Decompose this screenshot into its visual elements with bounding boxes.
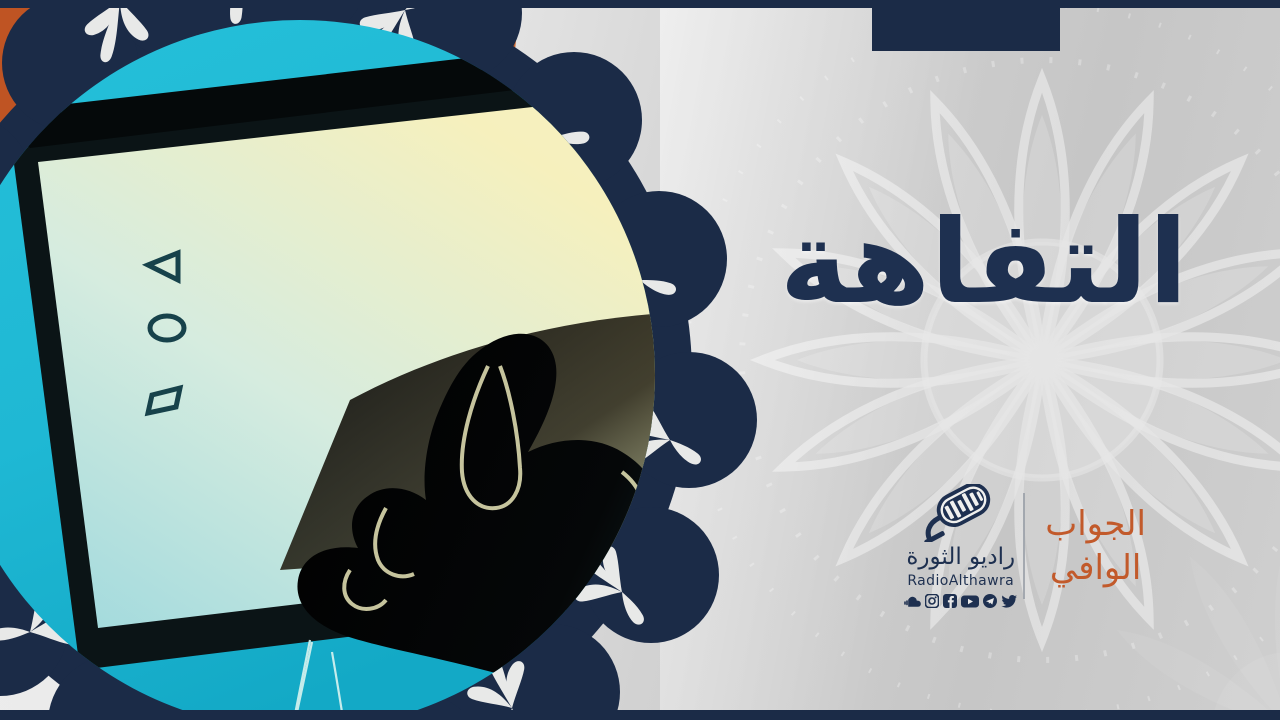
logo-lockup: الجواب الوافي xyxy=(886,484,1162,608)
top-navy-strip xyxy=(0,0,1280,8)
top-navy-block xyxy=(872,0,1060,51)
radio-brand: راديو الثورة RadioAlthawra xyxy=(886,484,1023,608)
facebook-icon[interactable] xyxy=(943,594,957,608)
logo-divider xyxy=(1023,493,1025,599)
show-name-line2: الوافي xyxy=(1045,546,1146,590)
show-name-line1: الجواب xyxy=(1045,502,1146,546)
brand-name-arabic: راديو الثورة xyxy=(906,545,1015,570)
bottom-navy-strip xyxy=(0,710,1280,720)
microphone-logo-icon xyxy=(915,484,1007,542)
telegram-icon[interactable] xyxy=(983,594,997,608)
page-title: التفاهة xyxy=(628,196,1188,329)
background-panel xyxy=(0,0,1280,720)
youtube-icon[interactable] xyxy=(961,595,979,608)
instagram-icon[interactable] xyxy=(925,594,939,608)
social-icons xyxy=(904,594,1017,608)
poster-canvas: التفاهة الجواب الوافي xyxy=(0,0,1280,720)
show-name: الجواب الوافي xyxy=(1025,502,1162,590)
twitter-icon[interactable] xyxy=(1001,595,1017,608)
soundcloud-icon[interactable] xyxy=(904,595,921,608)
brand-name-latin: RadioAlthawra xyxy=(907,573,1014,589)
